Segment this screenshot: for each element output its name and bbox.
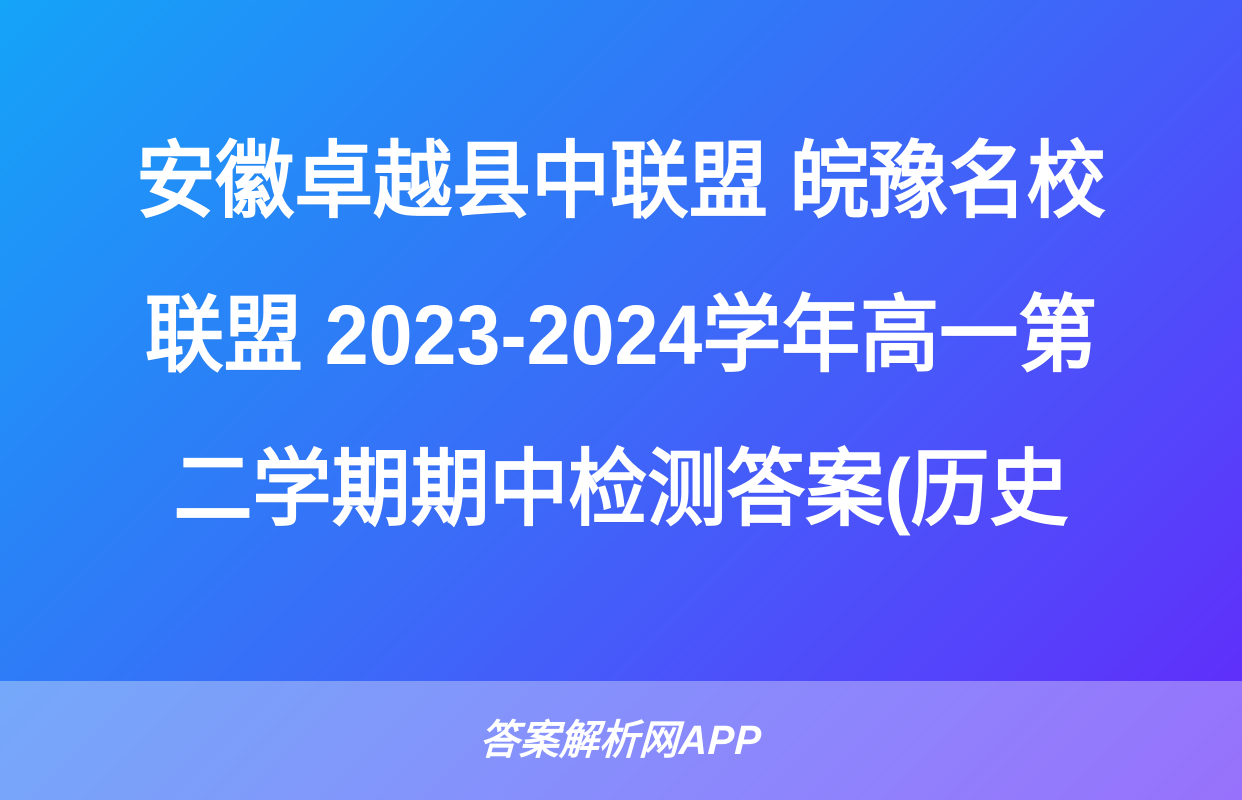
- page-title: 安徽卓越县中联盟 皖豫名校联盟 2023-2024学年高一第二学期期中检测答案(…: [37, 104, 1204, 566]
- watermark-app-label: 答案解析网APP: [479, 720, 763, 761]
- watermark-band: 答案解析网APP: [0, 681, 1242, 800]
- cover-card: 安徽卓越县中联盟 皖豫名校联盟 2023-2024学年高一第二学期期中检测答案(…: [0, 0, 1242, 800]
